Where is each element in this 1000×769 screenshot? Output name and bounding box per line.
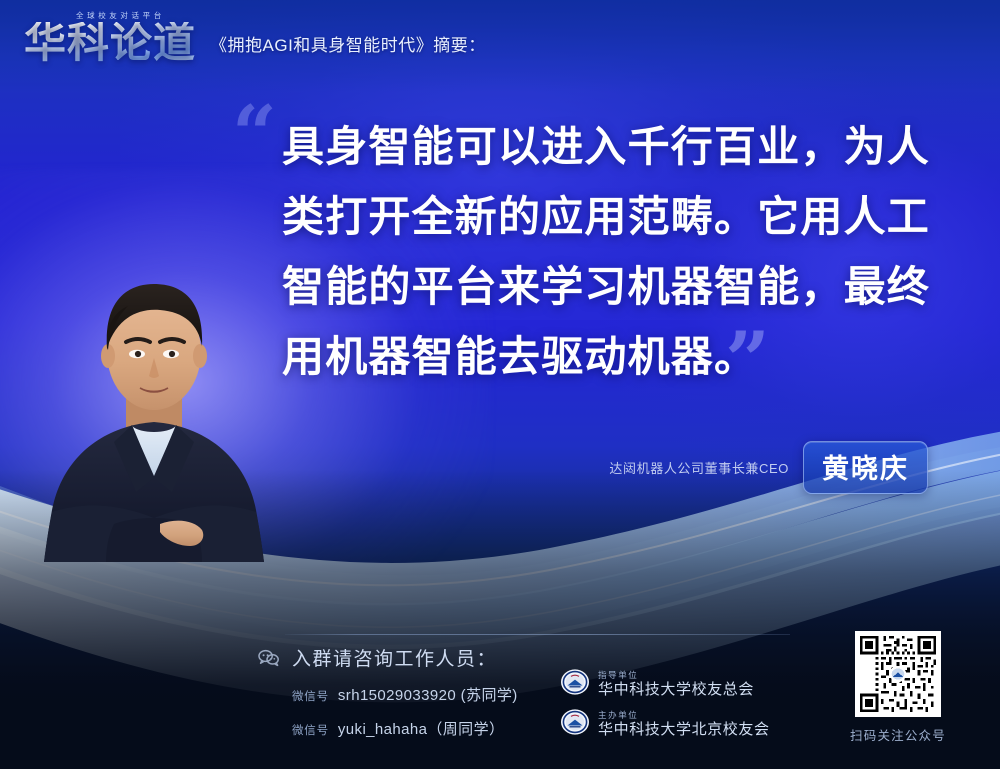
contact-row: 微信号 srh15029033920 (苏同学) [292, 684, 518, 705]
quote-text: 具身智能可以进入千行百业，为人 类打开全新的应用范畴。它用人工 智能的平台来学习… [282, 112, 942, 392]
hust-crest-icon [560, 668, 590, 701]
contact-block: 入群请咨询工作人员： 微信号 srh15029033920 (苏同学) 微信号 … [258, 644, 518, 739]
quote-line: 类打开全新的应用范畴。它用人工 [282, 182, 942, 252]
quote-line: 用机器智能去驱动机器。 [282, 322, 942, 392]
organizations-block: 指导单位 华中科技大学校友总会 主办单位 华中科技大学北京校友会 [560, 668, 770, 748]
wechat-icon [258, 649, 280, 667]
contact-header: 入群请咨询工作人员： [258, 644, 518, 671]
organization-name: 华中科技大学校友总会 [598, 682, 754, 698]
quote-line: 智能的平台来学习机器智能，最终 [282, 252, 942, 322]
attribution-role: 达闼机器人公司董事长兼CEO [609, 458, 789, 477]
footer-divider [285, 634, 790, 635]
contact-label: 微信号 [292, 722, 329, 738]
logo-tagline: 全球校友对话平台 [76, 10, 165, 21]
contact-row: 微信号 yuki_hahaha（周同学） [292, 718, 518, 739]
poster-header: 全球校友对话平台 华科论道 《拥抱AGI和具身智能时代》摘要： [24, 12, 486, 64]
qr-block: 扫码关注公众号 [843, 631, 953, 744]
attribution-name-badge: 黄晓庆 [803, 441, 928, 494]
attribution: 达闼机器人公司董事长兼CEO 黄晓庆 [609, 441, 928, 494]
contact-value[interactable]: srh15029033920 (苏同学) [338, 684, 518, 705]
contact-title: 入群请咨询工作人员： [292, 644, 497, 671]
quote-line: 具身智能可以进入千行百业，为人 [282, 112, 942, 182]
organization-row: 指导单位 华中科技大学校友总会 [560, 668, 770, 701]
logo-wordmark: 华科论道 [24, 22, 196, 64]
brand-logo[interactable]: 全球校友对话平台 华科论道 [24, 12, 196, 64]
poster-root: 全球校友对话平台 华科论道 《拥抱AGI和具身智能时代》摘要： “ 具身智能可以… [0, 0, 1000, 769]
organization-kind: 主办单位 [598, 711, 770, 720]
organization-kind: 指导单位 [598, 671, 754, 680]
organization-name: 华中科技大学北京校友会 [598, 722, 770, 738]
speaker-portrait [28, 262, 280, 562]
contact-label: 微信号 [292, 688, 329, 704]
hust-crest-icon [560, 708, 590, 741]
quote-open-icon: “ [232, 96, 277, 174]
contact-value[interactable]: yuki_hahaha（周同学） [338, 718, 504, 739]
qr-caption: 扫码关注公众号 [843, 725, 953, 744]
organization-row: 主办单位 华中科技大学北京校友会 [560, 708, 770, 741]
qr-code-image[interactable] [855, 631, 941, 717]
header-subtitle: 《拥抱AGI和具身智能时代》摘要： [210, 31, 486, 64]
